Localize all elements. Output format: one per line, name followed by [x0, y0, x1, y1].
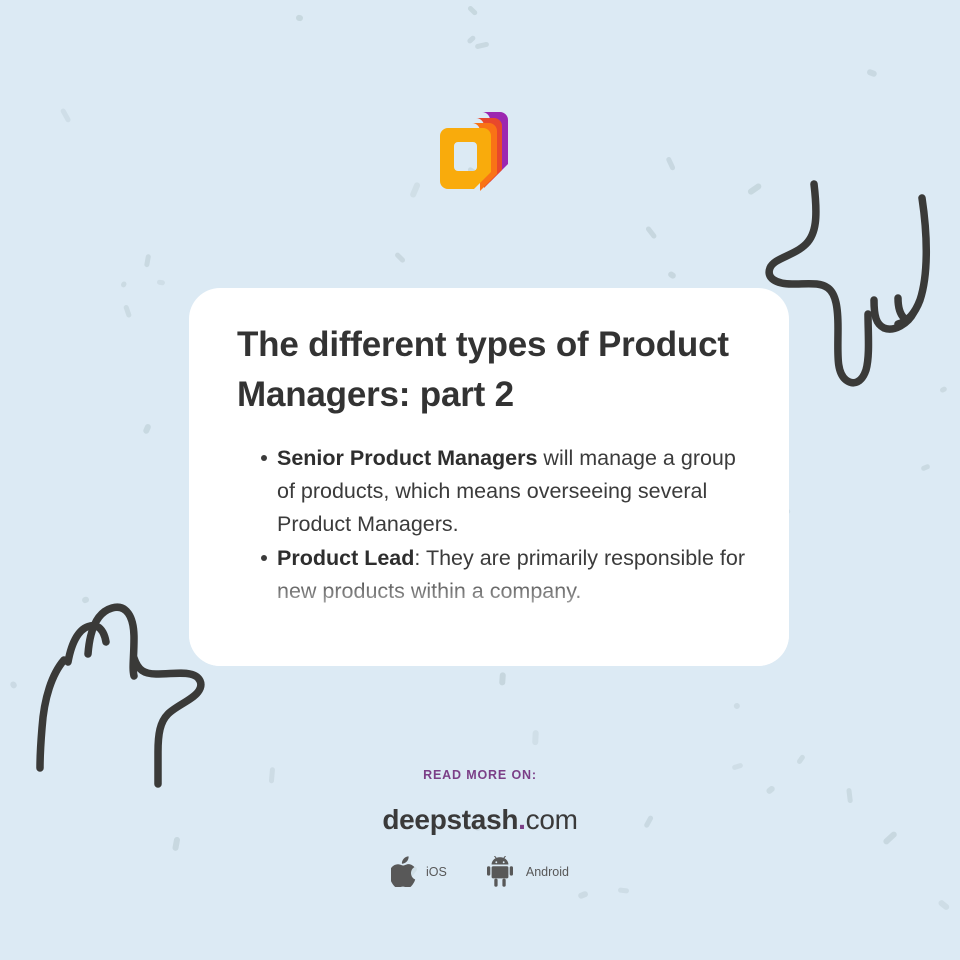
content-card: The different types of Product Managers:…	[189, 288, 789, 666]
speckle	[938, 899, 951, 911]
speckle	[618, 887, 629, 893]
speckle	[142, 423, 151, 434]
speckle	[467, 35, 477, 45]
list-item: Senior Product Managers will manage a gr…	[237, 442, 745, 541]
android-badge[interactable]: Android	[487, 856, 569, 887]
speckle	[59, 107, 71, 123]
speckle	[667, 270, 677, 279]
bullet-icon	[261, 555, 267, 561]
wordmark-name: deepstash	[382, 804, 518, 835]
android-icon	[487, 856, 517, 887]
speckle	[747, 182, 763, 195]
speckle	[645, 225, 658, 240]
speckle	[409, 182, 421, 199]
ios-label: iOS	[426, 865, 447, 879]
wordmark-dot: .	[518, 804, 525, 835]
idea-list: Senior Product Managers will manage a gr…	[237, 442, 745, 608]
speckle	[920, 463, 930, 471]
speckle	[499, 672, 506, 685]
speckle	[120, 281, 127, 288]
poster-canvas: The different types of Product Managers:…	[0, 0, 960, 960]
hand-pointing-up-icon	[22, 562, 212, 792]
speckle	[81, 596, 89, 604]
speckle	[796, 754, 806, 765]
ios-badge[interactable]: iOS	[391, 856, 447, 887]
speckle	[123, 304, 132, 318]
speckle	[733, 702, 741, 710]
list-item: Product Lead: They are primarily respons…	[237, 542, 745, 608]
speckle	[157, 279, 165, 285]
speckle	[939, 386, 948, 394]
speckle	[296, 14, 304, 21]
speckle	[577, 890, 588, 899]
list-item-lead: Product Lead	[277, 546, 414, 570]
list-item-lead: Senior Product Managers	[277, 446, 537, 470]
speckle	[467, 5, 479, 16]
speckle	[475, 41, 489, 49]
read-more-label: READ MORE ON:	[0, 768, 960, 782]
speckle	[394, 252, 406, 264]
footer: READ MORE ON: deepstash.com iOS	[0, 768, 960, 887]
speckle	[144, 254, 151, 268]
card-content: The different types of Product Managers:…	[189, 288, 789, 609]
hand-pointing-down-icon	[762, 172, 952, 397]
apple-icon	[391, 856, 417, 887]
speckle	[666, 156, 676, 170]
app-store-badges: iOS Android	[0, 856, 960, 887]
speckle	[867, 69, 878, 78]
android-label: Android	[526, 865, 569, 879]
deepstash-wordmark[interactable]: deepstash.com	[0, 804, 960, 836]
speckle	[9, 680, 18, 689]
bullet-icon	[261, 455, 267, 461]
wordmark-tld: com	[526, 804, 578, 835]
deepstash-logo-icon	[428, 102, 520, 198]
speckle	[532, 730, 538, 745]
page-title: The different types of Product Managers:…	[237, 320, 745, 420]
